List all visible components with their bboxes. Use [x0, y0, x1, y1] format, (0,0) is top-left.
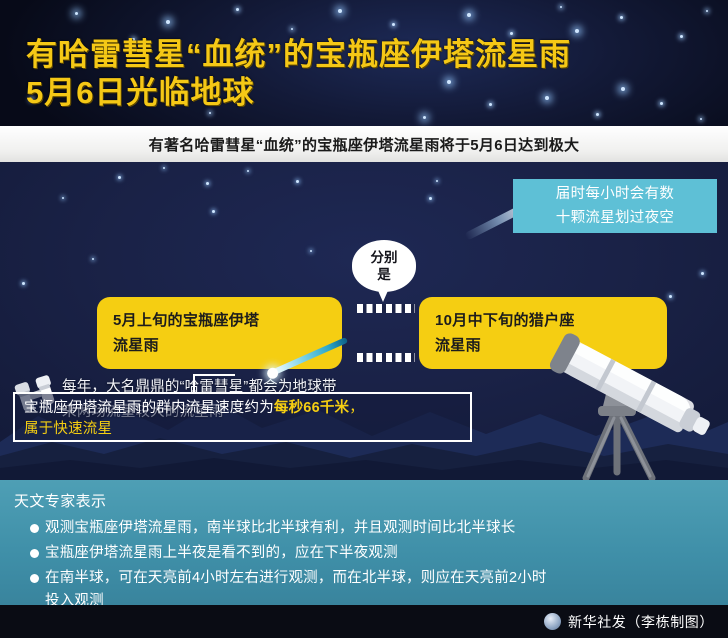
telescope-icon [536, 332, 726, 480]
bullet-dot-icon [30, 524, 39, 533]
star [291, 28, 293, 30]
expert-note-text: 宝瓶座伊塔流星雨上半夜是看不到的，应在下半夜观测 [45, 542, 398, 565]
star [700, 118, 702, 120]
subtitle-bar: 有著名哈雷彗星“血统”的宝瓶座伊塔流星雨将于5月6日达到极大 [0, 126, 728, 162]
star [163, 167, 165, 169]
star [701, 272, 704, 275]
night-sky-scene: 每年，大名鼎鼎的“哈雷彗星”都会为地球带 来两场流量较大的流星雨 届时每小时会有… [0, 162, 728, 480]
speech-bubble: 分别 是 [352, 240, 416, 292]
film-strip-connector [357, 304, 415, 362]
speed-box-stem-arm [193, 374, 235, 376]
star [22, 282, 25, 285]
list-item: 观测宝瓶座伊塔流星雨，南半球比北半球有利，并且观测时间比北半球长 [30, 517, 714, 540]
star [575, 29, 579, 33]
cyan-callout-box: 届时每小时会有数 十颗流星划过夜空 [513, 179, 717, 233]
speed-highlight: 每秒66千米 [274, 400, 349, 416]
speed-suffix: ， [349, 400, 364, 416]
star [596, 113, 599, 116]
star [212, 210, 215, 213]
star [247, 170, 249, 172]
star [392, 23, 395, 26]
star [296, 180, 299, 183]
speed-box-stem [193, 374, 195, 394]
star [310, 250, 312, 252]
bullet-dot-icon [30, 574, 39, 583]
credit-text: 新华社发（李栋制图） [568, 612, 714, 632]
speed-info-box: 宝瓶座伊塔流星雨的群内流星速度约为每秒66千米， 属于快速流星 [13, 392, 472, 442]
star [206, 182, 209, 185]
expert-note-text: 观测宝瓶座伊塔流星雨，南半球比北半球有利，并且观测时间比北半球长 [45, 517, 515, 540]
shower-box-label: 5月上旬的宝瓶座伊塔 流星雨 [113, 312, 259, 354]
speech-bubble-text: 分别 是 [371, 249, 398, 283]
expert-notes-heading: 天文专家表示 [14, 492, 714, 512]
list-item: 宝瓶座伊塔流星雨上半夜是看不到的，应在下半夜观测 [30, 542, 714, 565]
speed-prefix: 宝瓶座伊塔流星雨的群内流星速度约为 [24, 400, 274, 416]
xinhua-logo-icon [544, 613, 561, 630]
subtitle-text: 有著名哈雷彗星“血统”的宝瓶座伊塔流星雨将于5月6日达到极大 [149, 134, 580, 155]
star [423, 116, 426, 119]
bullet-dot-icon [30, 549, 39, 558]
star [209, 112, 211, 114]
star [429, 197, 432, 200]
star [436, 180, 438, 182]
infographic-poster: 有哈雷彗星“血统”的宝瓶座伊塔流星雨 5月6日光临地球 有著名哈雷彗星“血统”的… [0, 0, 728, 638]
speed-line-2: 属于快速流星 [24, 419, 462, 440]
footer-credit-bar: 新华社发（李栋制图） [0, 605, 728, 638]
speed-line-1: 宝瓶座伊塔流星雨的群内流星速度约为每秒66千米， [24, 398, 462, 419]
cyan-callout-text: 届时每小时会有数 十颗流星划过夜空 [556, 182, 674, 230]
star [669, 295, 672, 298]
expert-notes-panel: 天文专家表示 观测宝瓶座伊塔流星雨，南半球比北半球有利，并且观测时间比北半球长 … [0, 480, 728, 605]
star [166, 20, 170, 24]
star [118, 176, 121, 179]
star [338, 9, 342, 13]
header-starfield: 有哈雷彗星“血统”的宝瓶座伊塔流星雨 5月6日光临地球 [0, 0, 728, 126]
star [467, 13, 471, 17]
star [62, 197, 64, 199]
star [75, 12, 78, 15]
star [92, 258, 94, 260]
star [706, 10, 708, 12]
star [236, 8, 239, 11]
speech-bubble-tail [376, 286, 390, 302]
star [560, 6, 562, 8]
star [510, 32, 513, 35]
page-title: 有哈雷彗星“血统”的宝瓶座伊塔流星雨 5月6日光临地球 [26, 36, 716, 112]
star [620, 16, 623, 19]
